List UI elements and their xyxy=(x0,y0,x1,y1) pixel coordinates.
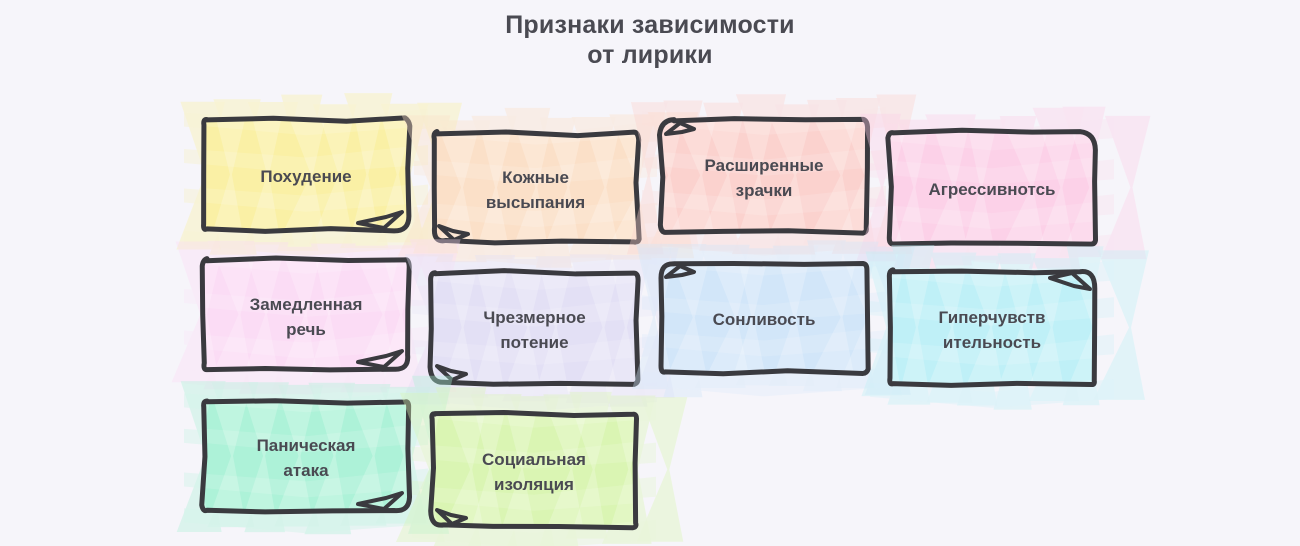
card-kozhnye-vysypaniya-sketch xyxy=(432,131,639,244)
card-kozhnye-vysypaniya[interactable]: Кожные высыпания xyxy=(432,131,639,244)
card-chrezmernoe-potenie-sketch xyxy=(430,271,639,384)
card-pohudenie-sketch xyxy=(202,117,410,232)
card-giperchuvstvitelnost-sketch xyxy=(888,269,1096,386)
card-socialnaya-izolyaciya-sketch xyxy=(430,411,638,528)
card-sonlivost[interactable]: Сонливость xyxy=(660,261,868,374)
card-zamedlennaya-rech[interactable]: Замедленная речь xyxy=(202,258,410,371)
card-chrezmernoe-potenie[interactable]: Чрезмерное потение xyxy=(430,271,639,384)
card-rasshirennye-zrachki[interactable]: Расширенные зрачки xyxy=(660,118,868,233)
card-socialnaya-izolyaciya[interactable]: Социальная изоляция xyxy=(430,411,638,528)
card-agressivnots-sketch xyxy=(888,130,1096,245)
infographic-canvas: Признаки зависимости от лирики Похудение… xyxy=(0,0,1300,546)
card-panicheskaya-ataka[interactable]: Паническая атака xyxy=(202,399,410,513)
page-title: Признаки зависимости от лирики xyxy=(0,10,1300,70)
card-agressivnots[interactable]: Агрессивнотсь xyxy=(888,130,1096,245)
card-giperchuvstvitelnost[interactable]: Гиперчувств ительность xyxy=(888,269,1096,386)
card-zamedlennaya-rech-sketch xyxy=(202,258,410,371)
card-pohudenie[interactable]: Похудение xyxy=(202,117,410,232)
card-rasshirennye-zrachki-sketch xyxy=(660,118,868,233)
card-panicheskaya-ataka-sketch xyxy=(202,399,410,513)
card-sonlivost-sketch xyxy=(660,261,868,374)
